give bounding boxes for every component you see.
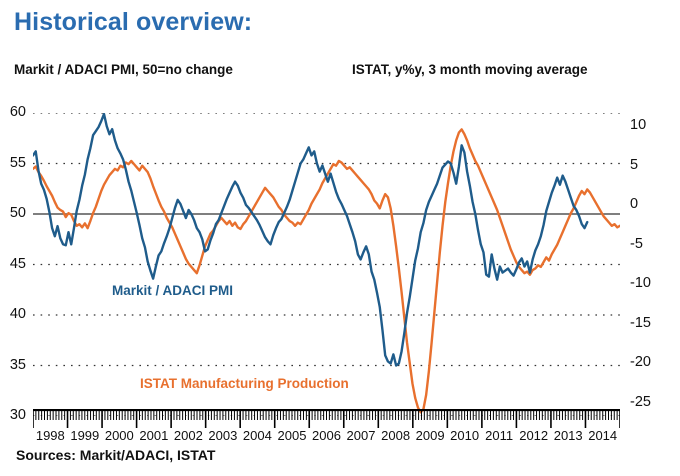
right-axis-tick-label: 10 — [630, 117, 664, 133]
x-axis-year-label: 2009 — [416, 428, 445, 443]
x-axis-year-label: 1999 — [70, 428, 99, 443]
x-axis-year-label: 2012 — [519, 428, 548, 443]
x-axis-year-label: 2000 — [105, 428, 134, 443]
left-axis-tick-label: 45 — [0, 256, 26, 272]
x-axis-year-labels: 1998199920002001200220032004200520062007… — [33, 428, 620, 446]
left-axis-tick-label: 30 — [0, 407, 26, 423]
x-axis-year-label: 1998 — [36, 428, 65, 443]
right-axis-tick-label: -10 — [630, 275, 664, 291]
x-axis-year-label: 2003 — [208, 428, 237, 443]
left-axis-tick-label: 60 — [0, 104, 26, 120]
series-label-pmi: Markit / ADACI PMI — [112, 283, 233, 298]
left-axis-tick-label: 55 — [0, 155, 26, 171]
x-axis-year-label: 2014 — [588, 428, 617, 443]
right-axis-subtitle: ISTAT, y%y, 3 month moving average — [352, 62, 588, 77]
right-axis-tick-label: -20 — [630, 354, 664, 370]
x-axis-year-label: 2006 — [312, 428, 341, 443]
page-title: Historical overview: — [14, 8, 252, 37]
right-axis-tick-label: -15 — [630, 315, 664, 331]
x-axis-year-label: 2004 — [243, 428, 272, 443]
right-axis-tick-label: -25 — [630, 394, 664, 410]
istat-production-line — [33, 129, 620, 412]
x-axis-year-label: 2002 — [174, 428, 203, 443]
left-axis-subtitle: Markit / ADACI PMI, 50=no change — [14, 62, 233, 77]
x-axis-year-label: 2010 — [450, 428, 479, 443]
x-axis-year-label: 2013 — [554, 428, 583, 443]
sources-note: Sources: Markit/ADACI, ISTAT — [16, 447, 215, 463]
x-axis-year-label: 2008 — [381, 428, 410, 443]
plot-area — [33, 113, 620, 416]
right-axis-tick-label: 0 — [630, 196, 664, 212]
left-axis-tick-label: 40 — [0, 306, 26, 322]
x-axis-year-label: 2001 — [139, 428, 168, 443]
left-axis-tick-label: 50 — [0, 205, 26, 221]
x-axis-year-label: 2011 — [485, 428, 513, 443]
series-label-istat: ISTAT Manufacturing Production — [140, 376, 349, 391]
chart-svg — [33, 113, 620, 416]
right-axis-tick-label: 5 — [630, 157, 664, 173]
x-axis-year-label: 2007 — [347, 428, 376, 443]
left-axis-tick-label: 35 — [0, 357, 26, 373]
markit-pmi-line — [33, 114, 587, 365]
x-axis-tick-band — [33, 409, 620, 429]
chart-page: Historical overview: Markit / ADACI PMI,… — [0, 0, 680, 476]
x-axis-year-label: 2005 — [278, 428, 307, 443]
right-axis-tick-label: -5 — [630, 236, 664, 252]
